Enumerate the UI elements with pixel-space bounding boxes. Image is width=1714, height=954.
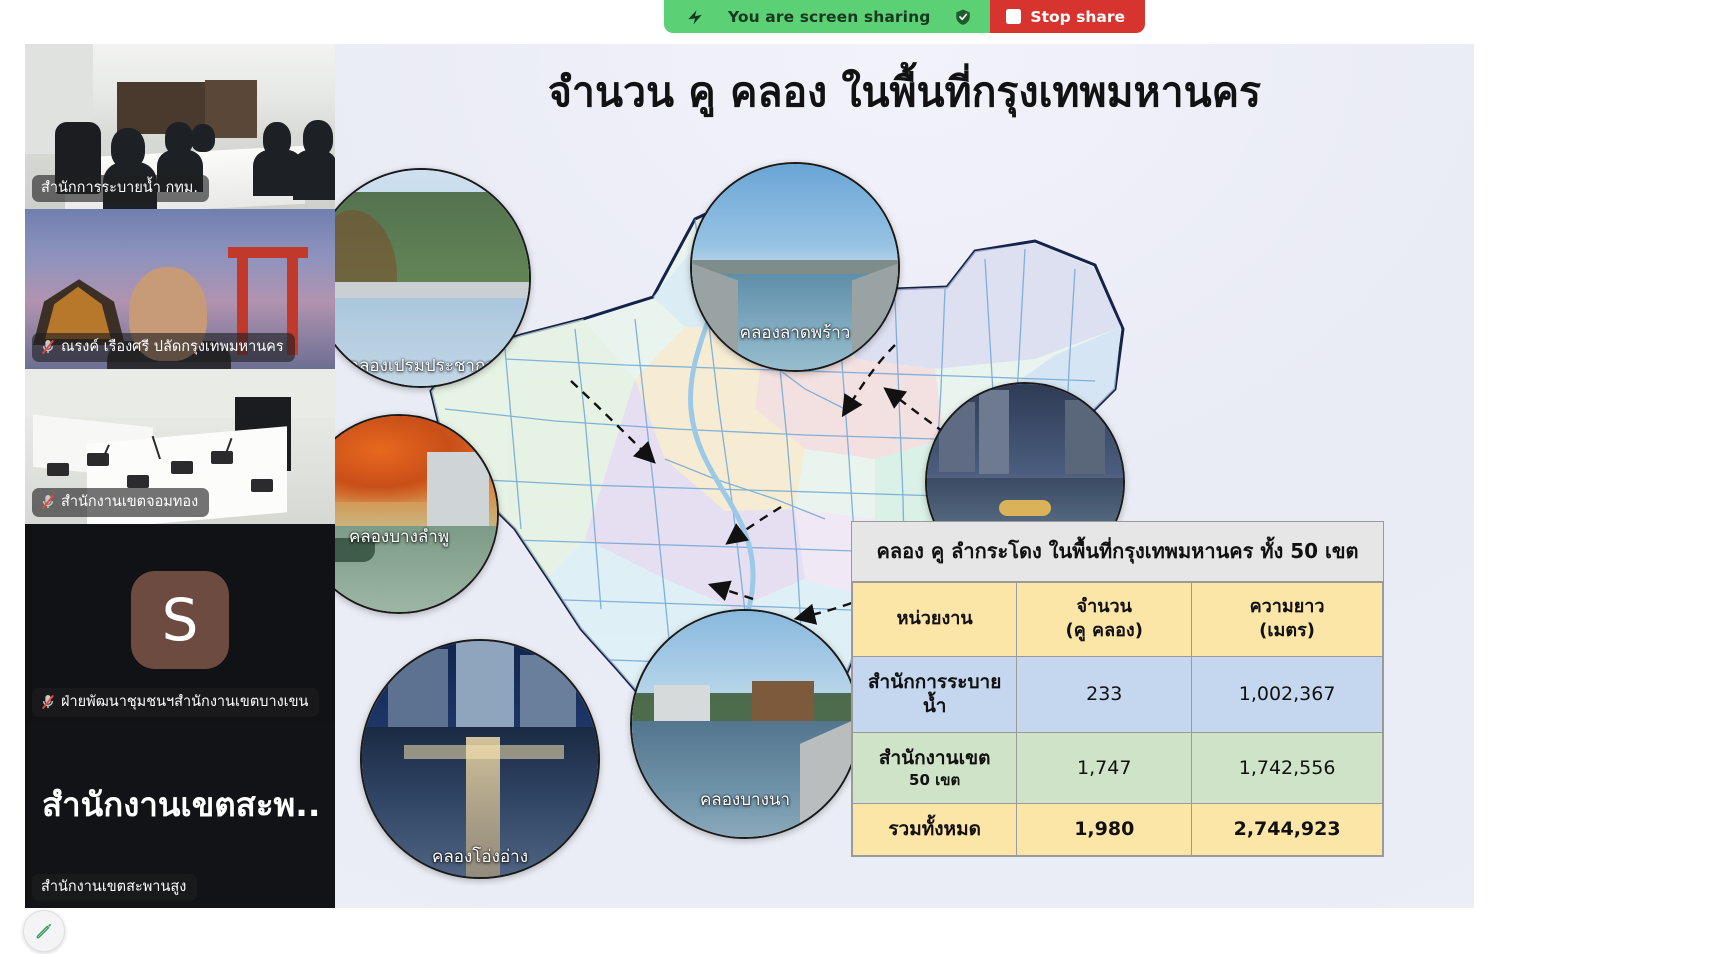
- shield-check-icon[interactable]: [954, 8, 972, 26]
- table-cell-count: 1,747: [1017, 732, 1192, 803]
- video-decor: [171, 461, 193, 474]
- video-decor: [127, 475, 149, 488]
- photo-image: [404, 745, 564, 759]
- participant-name: สำนักงานเขตสะพานสูง: [41, 880, 186, 895]
- participant-name-badge: สำนักงานเขตสะพานสูง: [32, 874, 197, 902]
- pencil-icon: [34, 921, 54, 941]
- photo-caption: คลองโอ่งอ่าง: [362, 843, 598, 870]
- screen: You are screen sharing Stop share: [0, 0, 1714, 954]
- photo-image: [979, 390, 1009, 474]
- header-line2: (คู คลอง): [1021, 619, 1187, 643]
- participant-tile[interactable]: ณรงค์ เรืองศรี ปลัดกรุงเทพมหานคร: [25, 209, 335, 369]
- video-decor: [191, 124, 215, 152]
- photo-image: [752, 681, 814, 725]
- participant-display-name: สำนักงานเขตสะพ...: [42, 786, 322, 824]
- table-cell-unit: รวมทั้งหมด: [853, 804, 1017, 856]
- screen-sharing-status: You are screen sharing: [664, 0, 990, 33]
- table-header-cell: หน่วยงาน: [853, 583, 1017, 657]
- table-cell-length: 2,744,923: [1192, 804, 1383, 856]
- photo-circle: คลองโอ่งอ่าง: [360, 639, 600, 879]
- photo-caption: คลองบางลำพู: [335, 523, 497, 550]
- mic-muted-icon: [41, 494, 55, 510]
- stop-share-label: Stop share: [1030, 8, 1125, 26]
- photo-circle: คลองเปรมประชากร: [335, 168, 531, 388]
- photo-image: [388, 649, 448, 733]
- avatar-initial: S: [162, 591, 199, 649]
- table-cell-length: 1,002,367: [1192, 656, 1383, 732]
- video-decor: [293, 150, 335, 200]
- participant-name: สำนักงานเขตจอมทอง: [61, 495, 198, 510]
- annotate-button[interactable]: [23, 910, 65, 952]
- participant-name: ณรงค์ เรืองศรี ปลัดกรุงเทพมหานคร: [61, 340, 284, 355]
- header-line1: ความยาว: [1196, 595, 1378, 619]
- mic-muted-icon: [41, 339, 55, 355]
- photo-circle: คลองบางลำพู: [335, 414, 499, 614]
- table-cell-length: 1,742,556: [1192, 732, 1383, 803]
- photo-image: [692, 264, 738, 372]
- participant-tile[interactable]: สำนักการระบายน้ำ กทม.: [25, 44, 335, 209]
- participant-name-badge: ฝ่ายพัฒนาชุมชนฯสำนักงานเขตบางเขน: [32, 688, 319, 717]
- participant-name: ฝ่ายพัฒนาชุมชนฯสำนักงานเขตบางเขน: [61, 695, 308, 710]
- photo-image: [852, 264, 898, 372]
- photo-caption: คลองบางนา: [632, 786, 858, 813]
- photo-image: [520, 655, 576, 735]
- stop-share-button[interactable]: Stop share: [990, 0, 1145, 33]
- participant-name-badge: ณรงค์ เรืองศรี ปลัดกรุงเทพมหานคร: [32, 333, 295, 362]
- photo-image: [335, 282, 529, 298]
- screen-share-toolbar: You are screen sharing Stop share: [664, 0, 1145, 33]
- page-title: จำนวน คู คลอง ในพื้นที่กรุงเทพมหานคร: [335, 68, 1474, 117]
- participant-name-badge: สำนักการระบายน้ำ กทม.: [32, 175, 209, 203]
- unit-line1: สำนักงานเขต: [857, 746, 1012, 771]
- header-line1: หน่วยงาน: [857, 607, 1012, 631]
- photo-image: [999, 500, 1051, 516]
- table-cell-count: 1,980: [1017, 804, 1192, 856]
- shared-slide: จำนวน คู คลอง ในพื้นที่กรุงเทพมหานคร: [335, 44, 1474, 908]
- screen-sharing-label: You are screen sharing: [728, 8, 930, 26]
- photo-image: [427, 452, 489, 526]
- unit-line2: 50 เขต: [857, 771, 1012, 791]
- participant-tile[interactable]: S ฝ่ายพัฒนาชุมชนฯสำนักงานเขตบางเขน: [25, 524, 335, 724]
- photo-circle: คลองลาดพร้าว: [690, 162, 900, 372]
- mic-muted-icon: [41, 694, 55, 710]
- table-cell-unit: สำนักงานเขต 50 เขต: [853, 732, 1017, 803]
- stop-square-icon: [1006, 9, 1021, 24]
- table-row: สำนักการระบายน้ำ 233 1,002,367: [853, 656, 1383, 732]
- participant-name: สำนักการระบายน้ำ กทม.: [41, 181, 198, 196]
- video-decor: [47, 463, 69, 476]
- table-cell-count: 233: [1017, 656, 1192, 732]
- canal-summary-table: คลอง คู ลำกระโดง ในพื้นที่กรุงเทพมหานคร …: [851, 521, 1384, 857]
- photo-image: [1065, 400, 1105, 474]
- photo-image: [456, 641, 514, 735]
- photo-image: [939, 402, 975, 472]
- photo-circle: คลองบางนา: [630, 609, 860, 839]
- table-row: สำนักงานเขต 50 เขต 1,747 1,742,556: [853, 732, 1383, 803]
- table: หน่วยงาน จำนวน (คู คลอง) ความยาว (เมตร): [852, 582, 1383, 856]
- video-decor: [228, 247, 308, 258]
- table-row: รวมทั้งหมด 1,980 2,744,923: [853, 804, 1383, 856]
- photo-caption: คลองลาดพร้าว: [692, 319, 898, 346]
- participant-filmstrip[interactable]: สำนักการระบายน้ำ กทม. ณรงค์ เรืองศรี ปลั…: [25, 44, 335, 908]
- header-line1: จำนวน: [1021, 595, 1187, 619]
- table-header-cell: ความยาว (เมตร): [1192, 583, 1383, 657]
- participant-tile[interactable]: สำนักงานเขตจอมทอง: [25, 369, 335, 524]
- participant-tile[interactable]: สำนักงานเขตสะพ... สำนักงานเขตสะพานสูง: [25, 724, 335, 908]
- table-header-row: หน่วยงาน จำนวน (คู คลอง) ความยาว (เมตร): [853, 583, 1383, 657]
- video-decor: [251, 479, 273, 492]
- video-decor: [211, 451, 233, 464]
- photo-image: [654, 685, 710, 723]
- table-cell-unit: สำนักการระบายน้ำ: [853, 656, 1017, 732]
- avatar: S: [131, 571, 229, 669]
- screen-share-icon: [686, 8, 704, 26]
- video-decor: [117, 82, 205, 134]
- header-line2: (เมตร): [1196, 619, 1378, 643]
- table-title: คลอง คู ลำกระโดง ในพื้นที่กรุงเทพมหานคร …: [852, 522, 1383, 582]
- table-header-cell: จำนวน (คู คลอง): [1017, 583, 1192, 657]
- photo-caption: คลองเปรมประชากร: [335, 352, 529, 379]
- participant-name-badge: สำนักงานเขตจอมทอง: [32, 488, 209, 517]
